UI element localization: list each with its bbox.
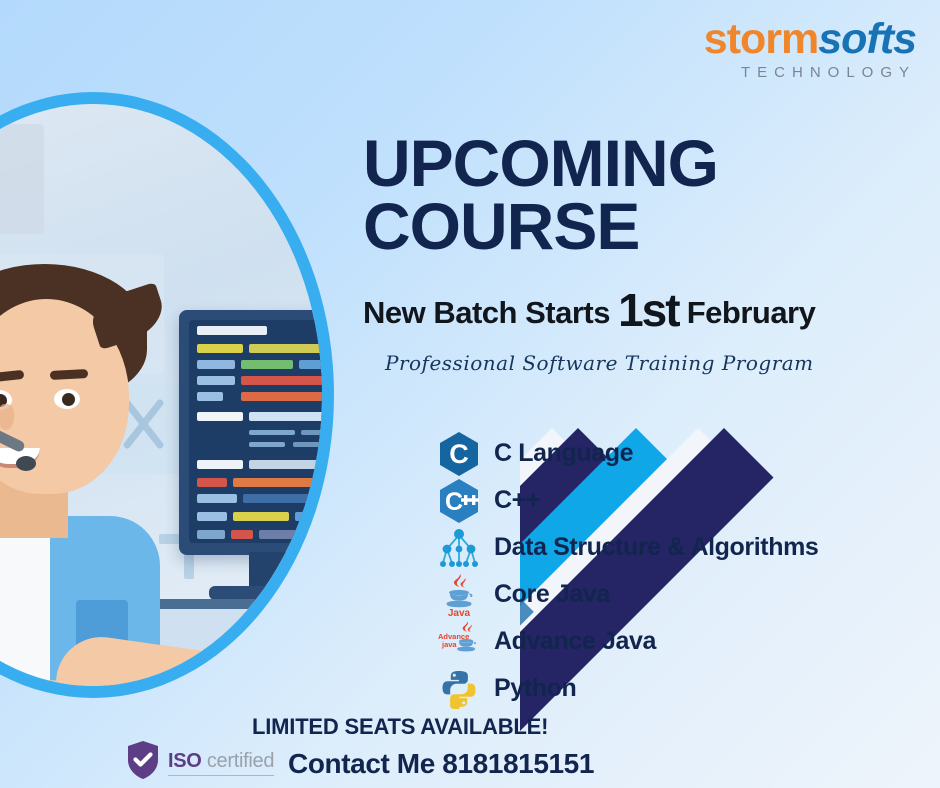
photo-illustration	[0, 104, 322, 686]
iso-label: ISO certified	[168, 750, 274, 776]
svg-text:Java: Java	[448, 608, 471, 618]
iso-primary-text: ISO	[168, 750, 202, 772]
contact-line[interactable]: Contact Me 8181815151	[288, 748, 594, 780]
java-icon: Java	[436, 574, 482, 616]
batch-start-line: New Batch Starts 1st February	[363, 283, 923, 337]
course-item-c-language[interactable]: C C Language	[436, 430, 818, 477]
poster-canvas: stormsofts TECHNOLOGY UPCOMING COURSE Ne…	[0, 0, 940, 788]
course-item-core-java[interactable]: Java Core Java	[436, 571, 818, 618]
logo-tagline: TECHNOLOGY	[704, 64, 916, 81]
contact-phone[interactable]: 8181815151	[442, 748, 594, 779]
monitor-stand	[249, 552, 315, 590]
iso-secondary-text: certified	[207, 750, 274, 772]
contact-label: Contact Me	[288, 748, 435, 779]
course-item-cpp[interactable]: C C++	[436, 477, 818, 524]
monitor-screen	[189, 320, 322, 543]
advance-java-icon: Advance java	[436, 621, 482, 663]
iso-certified-badge: ISO certified	[126, 740, 274, 785]
limited-seats-text: LIMITED SEATS AVAILABLE!	[252, 714, 548, 740]
course-label: Advance Java	[494, 627, 656, 656]
hero-photo	[0, 92, 346, 712]
headline-block: UPCOMING COURSE New Batch Starts 1st Feb…	[363, 132, 923, 375]
course-item-advance-java[interactable]: Advance java Advance Java	[436, 618, 818, 665]
course-item-python[interactable]: Python	[436, 665, 818, 712]
title-line-1: UPCOMING	[363, 132, 923, 195]
svg-text:java: java	[441, 640, 457, 649]
svg-text:C: C	[449, 439, 469, 469]
photo-ring-border	[0, 92, 334, 698]
course-label: Data Structure & Algorithms	[494, 533, 818, 562]
headset-mic-tip	[16, 456, 36, 471]
course-list: C C Language C C++ Data Structure & Algo…	[436, 430, 818, 712]
brand-logo[interactable]: stormsofts TECHNOLOGY	[704, 18, 916, 81]
python-icon	[436, 668, 482, 710]
title-line-2: COURSE	[363, 195, 923, 258]
wall-panel-a	[0, 124, 44, 234]
batch-day: 1st	[618, 284, 678, 336]
monitor-base	[209, 586, 322, 600]
course-item-data-structure[interactable]: Data Structure & Algorithms	[436, 524, 818, 571]
logo-wordmark: stormsofts	[704, 18, 916, 61]
svg-text:C: C	[445, 488, 463, 516]
logo-storm-text: storm	[704, 15, 818, 63]
data-structure-icon	[436, 527, 482, 569]
eye-right	[54, 389, 80, 409]
logo-softs-text: softs	[818, 15, 916, 63]
program-tagline: Professional Software Training Program	[385, 351, 923, 375]
course-label: C Language	[494, 439, 633, 468]
course-label: Core Java	[494, 580, 610, 609]
monitor	[179, 310, 322, 555]
shield-check-icon	[126, 740, 160, 785]
course-label: Python	[494, 674, 576, 703]
cpp-icon: C	[436, 480, 482, 522]
batch-month: February	[687, 295, 816, 330]
batch-prefix: New Batch Starts	[363, 295, 610, 330]
page-title: UPCOMING COURSE	[363, 132, 923, 257]
c-language-icon: C	[436, 433, 482, 475]
course-label: C++	[494, 486, 540, 515]
